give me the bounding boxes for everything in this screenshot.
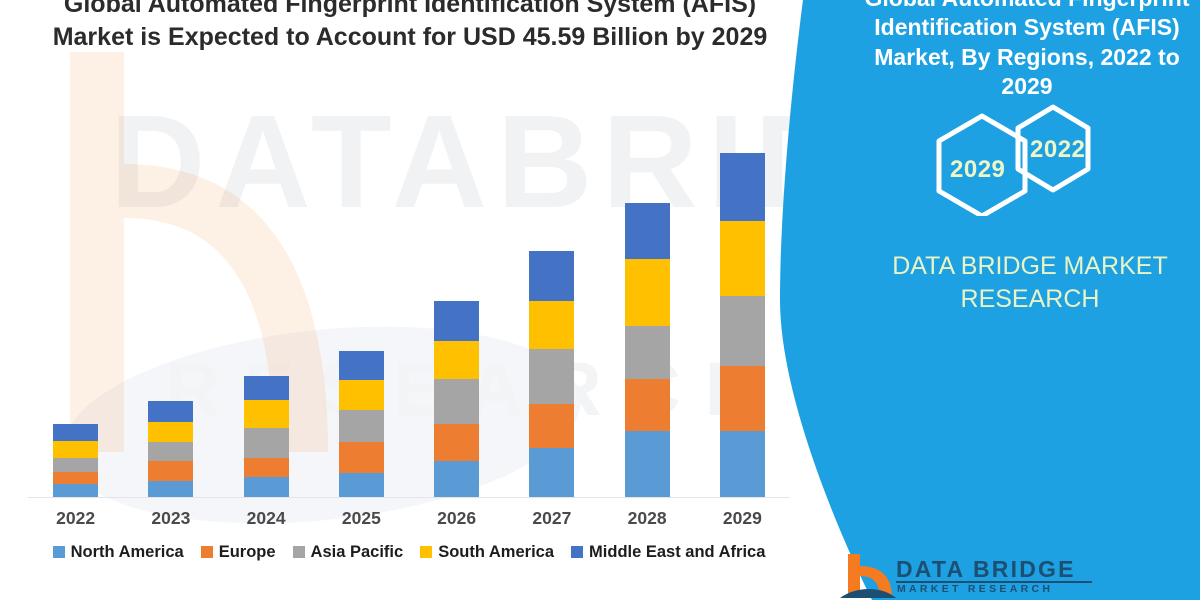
bar-segment-north-america-2029[interactable] [720, 431, 765, 497]
bar-segment-asia-pacific-2022[interactable] [53, 458, 98, 472]
legend-label: South America [438, 543, 554, 562]
bar-segment-south-america-2024[interactable] [244, 400, 289, 428]
bar-2029[interactable] [720, 153, 765, 497]
bar-segment-asia-pacific-2029[interactable] [720, 296, 765, 366]
stacked-bar-chart [28, 96, 790, 498]
bar-segment-asia-pacific-2027[interactable] [529, 349, 574, 404]
bar-segment-north-america-2026[interactable] [434, 461, 479, 496]
bar-segment-middle-east-and-africa-2023[interactable] [148, 401, 193, 422]
infographic-canvas: DATABRIDGE RESEARCH Global Automated Fin… [0, 0, 1200, 600]
bar-segment-europe-2026[interactable] [434, 424, 479, 462]
legend-swatch-icon [420, 546, 432, 558]
hexagon-badges: 2022 2029 [925, 96, 1125, 216]
legend-swatch-icon [201, 546, 213, 558]
bar-segment-europe-2025[interactable] [339, 442, 384, 473]
bar-slot-2023 [123, 97, 218, 497]
legend-swatch-icon [293, 546, 305, 558]
x-tick-2023: 2023 [123, 508, 218, 534]
bar-slot-2027 [504, 97, 599, 497]
chart-legend: North AmericaEuropeAsia PacificSouth Ame… [28, 538, 790, 566]
bar-segment-south-america-2022[interactable] [53, 441, 98, 457]
bar-slot-2028 [600, 97, 695, 497]
bar-segment-europe-2022[interactable] [53, 472, 98, 484]
bar-segment-north-america-2028[interactable] [625, 431, 670, 497]
x-tick-2028: 2028 [600, 508, 695, 534]
bar-segment-europe-2027[interactable] [529, 404, 574, 449]
bar-segment-north-america-2023[interactable] [148, 481, 193, 497]
logo-name: DATA BRIDGE [896, 556, 1076, 583]
bar-segment-middle-east-and-africa-2024[interactable] [244, 376, 289, 400]
legend-item-asia-pacific[interactable]: Asia Pacific [293, 543, 404, 562]
chart-x-axis-labels: 20222023202420252026202720282029 [28, 508, 790, 534]
bar-segment-south-america-2028[interactable] [625, 259, 670, 326]
x-tick-2027: 2027 [504, 508, 599, 534]
bar-segment-asia-pacific-2028[interactable] [625, 326, 670, 379]
bar-segment-middle-east-and-africa-2022[interactable] [53, 424, 98, 442]
bar-segment-europe-2023[interactable] [148, 461, 193, 480]
x-tick-2026: 2026 [409, 508, 504, 534]
bar-segment-asia-pacific-2025[interactable] [339, 410, 384, 442]
legend-label: Middle East and Africa [589, 543, 765, 562]
legend-item-north-america[interactable]: North America [53, 543, 184, 562]
bar-segment-europe-2029[interactable] [720, 366, 765, 431]
x-tick-2022: 2022 [28, 508, 123, 534]
bar-segment-north-america-2027[interactable] [529, 448, 574, 496]
x-tick-2024: 2024 [219, 508, 314, 534]
legend-label: Europe [219, 543, 276, 562]
bar-2028[interactable] [625, 203, 670, 496]
hexagon-label-2029: 2029 [950, 156, 1005, 184]
bar-segment-middle-east-and-africa-2028[interactable] [625, 203, 670, 259]
bar-2026[interactable] [434, 301, 479, 497]
bar-slot-2022 [28, 97, 123, 497]
legend-swatch-icon [571, 546, 583, 558]
bar-segment-north-america-2022[interactable] [53, 484, 98, 496]
legend-item-south-america[interactable]: South America [420, 543, 554, 562]
bar-2024[interactable] [244, 376, 289, 497]
bar-segment-south-america-2025[interactable] [339, 380, 384, 410]
bar-slot-2025 [314, 97, 409, 497]
bar-segment-asia-pacific-2024[interactable] [244, 428, 289, 458]
bar-slot-2024 [219, 97, 314, 497]
panel-brand-text: DATA BRIDGE MARKET RESEARCH [880, 250, 1180, 316]
bar-segment-middle-east-and-africa-2025[interactable] [339, 351, 384, 380]
company-logo: DATA BRIDGE MARKET RESEARCH [838, 552, 1178, 600]
logo-subtitle: MARKET RESEARCH [897, 583, 1053, 595]
bar-segment-north-america-2024[interactable] [244, 477, 289, 496]
bar-segment-south-america-2023[interactable] [148, 422, 193, 442]
bar-segment-asia-pacific-2023[interactable] [148, 442, 193, 461]
legend-label: North America [71, 543, 184, 562]
legend-label: Asia Pacific [311, 543, 404, 562]
chart-bars-group [28, 97, 790, 497]
legend-item-middle-east-and-africa[interactable]: Middle East and Africa [571, 543, 765, 562]
bar-2022[interactable] [53, 424, 98, 497]
legend-item-europe[interactable]: Europe [201, 543, 276, 562]
legend-swatch-icon [53, 546, 65, 558]
bar-segment-south-america-2029[interactable] [720, 221, 765, 296]
x-tick-2025: 2025 [314, 508, 409, 534]
bar-segment-middle-east-and-africa-2026[interactable] [434, 301, 479, 341]
bar-segment-middle-east-and-africa-2029[interactable] [720, 153, 765, 222]
bar-segment-south-america-2027[interactable] [529, 301, 574, 349]
bar-2023[interactable] [148, 401, 193, 496]
page-title: Global Automated Fingerprint Identificat… [30, 0, 790, 54]
bar-segment-europe-2028[interactable] [625, 379, 670, 431]
bar-slot-2029 [695, 97, 790, 497]
x-tick-2029: 2029 [695, 508, 790, 534]
chart-x-axis-line [28, 497, 790, 499]
bar-2025[interactable] [339, 351, 384, 497]
bar-segment-asia-pacific-2026[interactable] [434, 379, 479, 424]
hexagon-label-2022: 2022 [1030, 136, 1085, 164]
panel-title: Global Automated Fingerprint Identificat… [862, 0, 1192, 102]
bar-segment-south-america-2026[interactable] [434, 341, 479, 379]
bar-2027[interactable] [529, 251, 574, 497]
bar-segment-middle-east-and-africa-2027[interactable] [529, 251, 574, 301]
bar-slot-2026 [409, 97, 504, 497]
bar-segment-north-america-2025[interactable] [339, 473, 384, 496]
bar-segment-europe-2024[interactable] [244, 458, 289, 477]
